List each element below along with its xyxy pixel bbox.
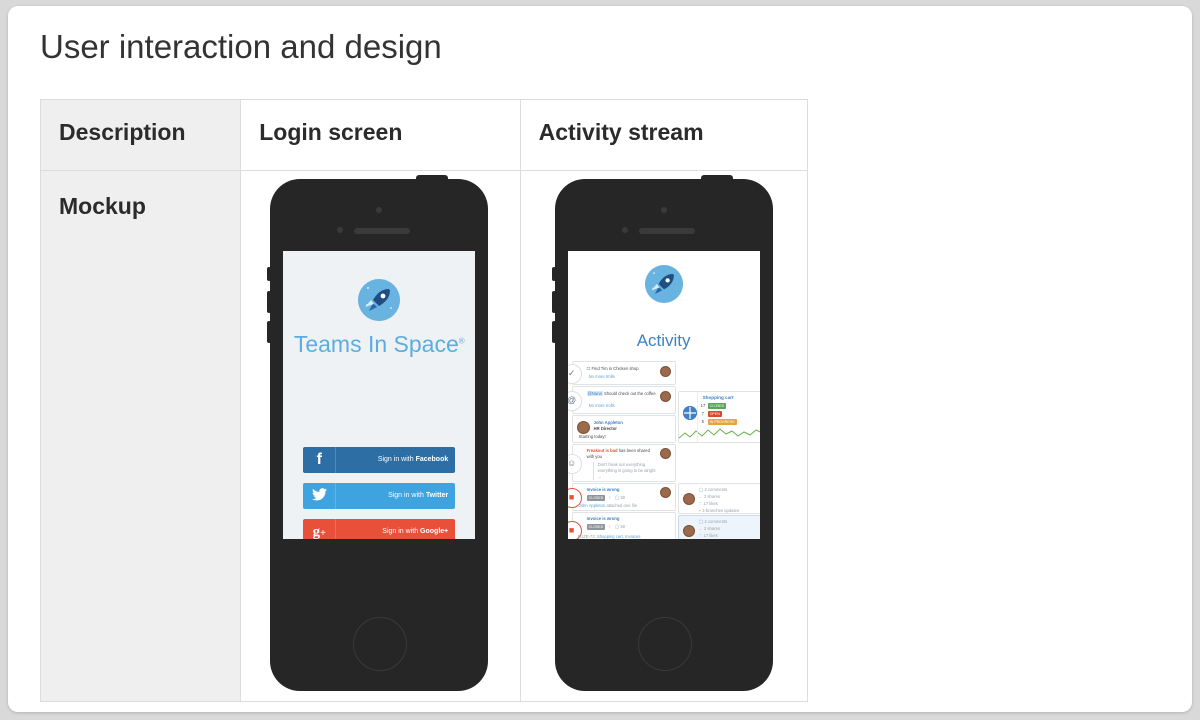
signin-twitter-button[interactable]: Sign in with Twitter <box>303 483 455 509</box>
table-row: Mockup <box>41 171 808 702</box>
stat-shares: ← 2 shares <box>699 494 720 500</box>
mute-switch[interactable] <box>552 267 556 281</box>
mockup-table: Description Login screen Activity stream… <box>40 99 808 702</box>
signin-google-plus-button[interactable]: g+ Sign in with Google+ <box>303 519 455 539</box>
brand-name: Teams In Space® <box>283 331 475 358</box>
status-badge: CLOSED <box>587 524 606 530</box>
stat-likes: ♡ 17 likes <box>699 533 718 539</box>
home-button[interactable] <box>353 617 407 671</box>
issue-reference: FUZE-73: Shopping cart, Invoices <box>578 534 641 539</box>
widget-divider <box>697 392 698 442</box>
header-cell-description: Description <box>41 100 241 171</box>
check-icon: ✓ <box>568 364 582 384</box>
power-button[interactable] <box>416 175 448 183</box>
avatar <box>683 525 695 537</box>
header-label-login-screen: Login screen <box>259 119 402 146</box>
invoice-title[interactable]: Invoice is wrong <box>587 516 620 522</box>
person-text: Starting today! <box>579 434 606 440</box>
widget-title: Shopping cart <box>703 395 734 400</box>
volume-up-button[interactable] <box>267 291 271 313</box>
signin-twitter-label: Sign in with Twitter <box>388 483 448 509</box>
activity-card-invoice-2[interactable]: ■ Invoice is wrong CLOSED ↑ ◯ 50 FUZE-73… <box>572 512 676 539</box>
avatar <box>660 448 671 459</box>
status-badge: CLOSED <box>587 495 606 501</box>
volume-up-button[interactable] <box>552 291 556 313</box>
brand-logo <box>283 279 475 326</box>
rocket-icon <box>358 279 400 321</box>
twitter-icon <box>303 483 336 509</box>
person-role: HR Director <box>594 426 617 432</box>
mention-text: @Nana Should check out the coffee <box>587 391 656 397</box>
stat-comments: ◯ 2 comments <box>699 519 728 525</box>
sparkline-chart <box>679 424 760 442</box>
brand-logo <box>568 265 760 308</box>
header-cell-activity-stream: Activity stream <box>520 100 807 171</box>
header-cell-login-screen: Login screen <box>241 100 520 171</box>
signin-facebook-button[interactable]: f Sign in with Facebook <box>303 447 455 473</box>
table-header-row: Description Login screen Activity stream <box>41 100 808 171</box>
facebook-icon: f <box>303 447 336 473</box>
earpiece-speaker-icon <box>639 228 695 234</box>
stat-comments: ◯ 2 comments <box>699 487 728 493</box>
rocket-icon <box>645 265 683 303</box>
comment-icon: ◯ 50 <box>615 524 626 530</box>
widget-count-1: 7 <box>702 411 704 417</box>
cell-activity-mockup: Activity ✓ ☐ Find Tim in Chicken shop No… <box>520 171 807 702</box>
activity-card-stats-2[interactable]: ◯ 2 comments ← 2 shares ♡ 17 likes ⑂ 3 b… <box>678 515 760 539</box>
mute-switch[interactable] <box>267 267 271 281</box>
signin-facebook-label: Sign in with Facebook <box>378 447 448 473</box>
login-screen: Teams In Space® f Sign in with Facebook … <box>283 251 475 539</box>
home-button[interactable] <box>638 617 692 671</box>
activity-feed: ✓ ☐ Find Tim in Chicken shop No more tro… <box>572 361 756 539</box>
avatar <box>577 421 590 434</box>
google-plus-icon: g+ <box>303 519 336 539</box>
front-camera-icon <box>661 207 667 213</box>
power-button[interactable] <box>701 175 733 183</box>
page-title: User interaction and design <box>40 28 442 66</box>
header-label-activity-stream: Activity stream <box>539 119 704 146</box>
comment-icon: ◯ 50 <box>615 495 626 501</box>
widget-label-0: CLOSED <box>708 403 727 409</box>
globe-icon <box>683 406 697 420</box>
header-label-description: Description <box>59 119 186 146</box>
trademark-mark: ® <box>459 336 465 345</box>
volume-down-button[interactable] <box>552 321 556 343</box>
stat-likes: ♡ 17 likes <box>699 501 718 507</box>
avatar <box>683 493 695 505</box>
invoice-meta: John Appleton attached one file <box>579 503 637 509</box>
widget-count-0: 17 <box>701 403 706 409</box>
activity-card-mention[interactable]: @ @Nana Should check out the coffee No m… <box>572 386 676 414</box>
activity-card-shared[interactable]: ☺ Freakout is bad has been shared with y… <box>572 444 676 482</box>
priority-arrow-icon: ↑ <box>609 524 611 530</box>
avatar <box>660 487 671 498</box>
shared-quote: Don't freak out everything everything is… <box>593 462 658 480</box>
signin-google-plus-label: Sign in with Google+ <box>382 519 448 539</box>
shopping-cart-widget[interactable]: Shopping cart 17 CLOSED 7 OPEN 5 IN PROG… <box>678 391 760 443</box>
priority-arrow-icon: ↑ <box>609 495 611 501</box>
widget-label-1: OPEN <box>708 411 722 417</box>
volume-down-button[interactable] <box>267 321 271 343</box>
stat-branches: ⑂ 3 branches updates <box>699 508 739 514</box>
proximity-sensor-icon <box>622 227 628 233</box>
earpiece-speaker-icon <box>354 228 410 234</box>
activity-card-task[interactable]: ✓ ☐ Find Tim in Chicken shop No more tro… <box>572 361 676 385</box>
task-sub[interactable]: No more trolls <box>589 374 615 380</box>
phone-login: Teams In Space® f Sign in with Facebook … <box>270 179 488 691</box>
avatar <box>660 391 671 402</box>
stat-shares: ← 2 shares <box>699 526 720 532</box>
activity-card-stats-1[interactable]: ◯ 2 comments ← 2 shares ♡ 17 likes ⑂ 3 b… <box>678 483 760 514</box>
activity-card-person[interactable]: John Appleton HR Director Starting today… <box>572 415 676 443</box>
cell-login-mockup: Teams In Space® f Sign in with Facebook … <box>241 171 520 702</box>
avatar <box>660 366 671 377</box>
activity-title: Activity <box>568 331 760 351</box>
at-icon: @ <box>568 391 582 411</box>
phone-activity: Activity ✓ ☐ Find Tim in Chicken shop No… <box>555 179 773 691</box>
activity-screen: Activity ✓ ☐ Find Tim in Chicken shop No… <box>568 251 760 539</box>
activity-card-invoice-1[interactable]: ■ Invoice is wrong CLOSED ↑ ◯ 50 John Ap… <box>572 483 676 511</box>
row-label-mockup: Mockup <box>41 171 241 702</box>
page-container: User interaction and design Description … <box>8 6 1192 712</box>
row-label-text: Mockup <box>59 193 146 220</box>
share-user-icon: ☺ <box>568 454 582 474</box>
shared-text: Freakout is bad has been shared with you <box>587 448 653 460</box>
mention-sub[interactable]: No more trolls <box>589 403 615 409</box>
invoice-title[interactable]: Invoice is wrong <box>587 487 620 493</box>
task-text: ☐ Find Tim in Chicken shop <box>587 366 639 372</box>
